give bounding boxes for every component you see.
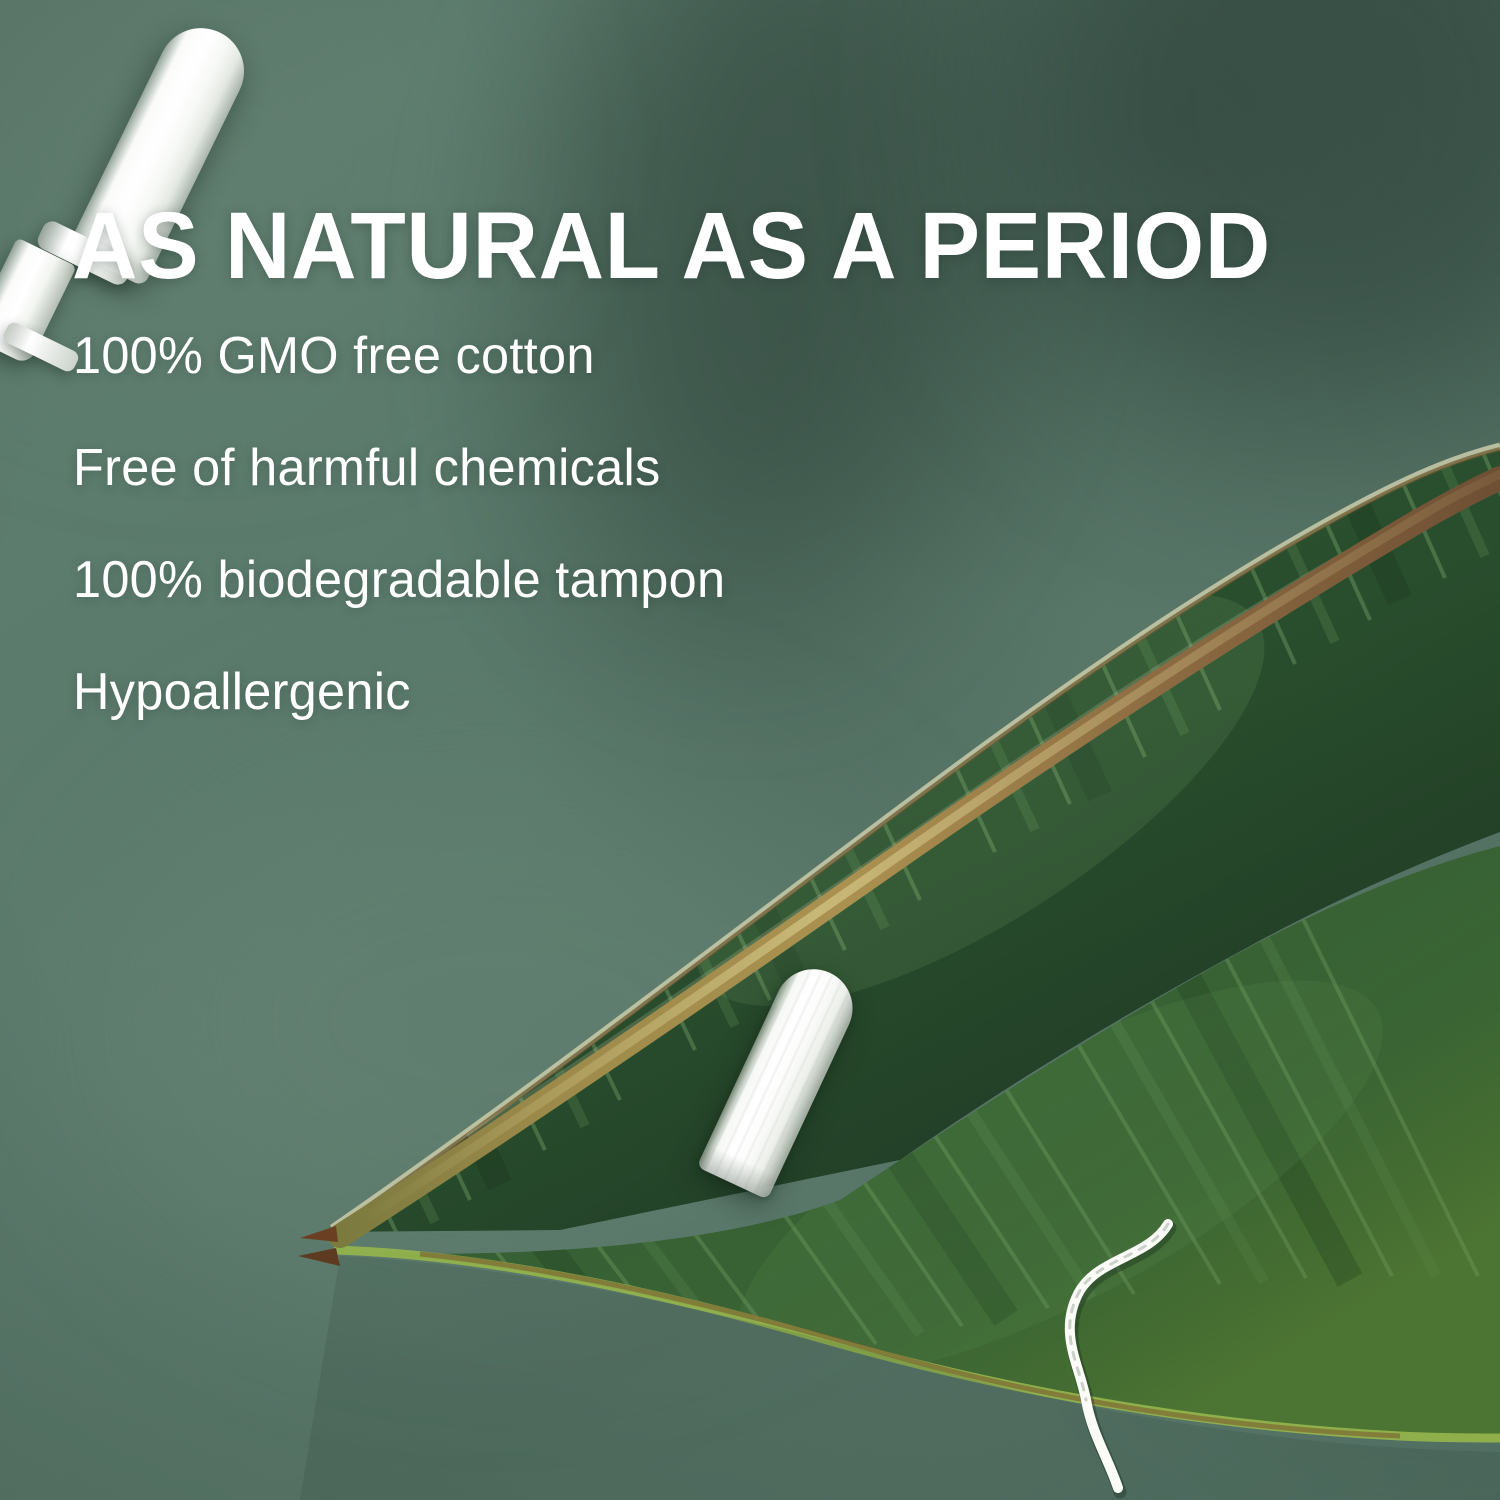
leaf-tip-lower [298, 1248, 340, 1266]
page-title: AS NATURAL AS A PERIOD [72, 198, 1271, 295]
list-item: Hypoallergenic [73, 636, 946, 748]
list-item: 100% GMO free cotton [73, 300, 946, 412]
list-item: Free of harmful chemicals [73, 412, 946, 524]
marketing-banner: AS NATURAL AS A PERIOD 100% GMO free cot… [0, 0, 1500, 1500]
list-item: 100% biodegradable tampon [73, 524, 946, 636]
benefits-list: 100% GMO free cotton Free of harmful che… [73, 300, 973, 748]
leaf-tip-upper [300, 1226, 338, 1242]
